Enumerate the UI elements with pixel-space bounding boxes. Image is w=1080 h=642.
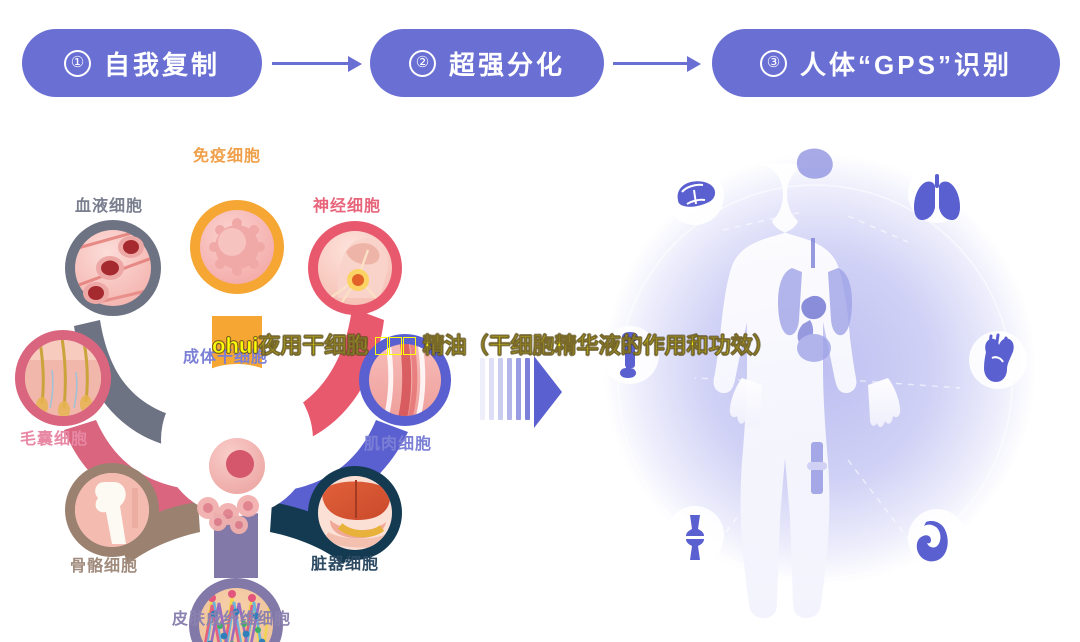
step-number-badge-2: ② [409,50,436,77]
missing-glyph-box-1 [375,337,388,355]
step-arrow-icon-1 [348,56,362,72]
cell-node-bone [65,463,159,557]
process-steps-header: ① 自我复制 ② 超强分化 ③ 人体“GPS”识别 [0,0,1080,120]
cell-label-organ: 脏器细胞 [311,550,379,574]
cell-label-muscle: 肌肉细胞 [364,430,432,454]
cell-label-fibroblast: 皮肤成纤维细胞 [172,605,291,629]
infographic-canvas: ① 自我复制 ② 超强分化 ③ 人体“GPS”识别 [0,0,1080,642]
step-connector-line-1 [272,62,350,65]
human-body-gps-panel [530,120,1080,642]
missing-glyph-box-3 [403,337,416,355]
organ-bubble-lungs [908,165,966,223]
cell-label-hair-follicle: 毛囊细胞 [20,425,88,449]
watermark-prefix: ohui夜用干细胞 [212,333,375,358]
watermark-suffix: 精油（干细胞精华液的作用和功效） [417,333,775,358]
cell-label-bone: 骨骼细胞 [70,552,138,576]
step-arrow-icon-2 [687,56,701,72]
cell-node-hair-follicle [15,330,111,426]
cell-node-blood [65,220,161,316]
step-label-3: 人体“GPS”识别 [800,45,1012,82]
step-number-badge-1: ① [64,50,91,77]
organ-bubble-brain [666,167,724,225]
cell-label-immune: 免疫细胞 [193,142,261,166]
cell-node-immune [190,200,284,294]
step-pill-self-replication[interactable]: ① 自我复制 [22,29,262,97]
step-pill-gps-recognition[interactable]: ③ 人体“GPS”识别 [712,29,1060,97]
step-label-1: 自我复制 [104,45,220,82]
step-pill-differentiation[interactable]: ② 超强分化 [370,29,604,97]
cell-node-nerve [308,221,402,315]
cell-label-nerve: 神经细胞 [313,192,381,216]
cell-node-organ [308,466,402,560]
human-body-silhouette [714,164,901,618]
missing-glyph-box-2 [389,337,402,355]
watermark-overlay-text: ohui夜用干细胞 精油（干细胞精华液的作用和功效） [212,328,775,360]
cell-label-blood: 血液细胞 [75,192,143,216]
organ-bubble-knee-joint [666,506,724,564]
step-connector-line-2 [613,62,689,65]
organ-bubble-stomach [908,509,966,567]
step-label-2: 超强分化 [449,45,565,82]
step-number-badge-3: ③ [760,50,787,77]
organ-bubble-heart [969,331,1027,389]
stem-cell-network-diagram: 免疫细胞 血液细胞 神经细胞 毛囊细胞 成体干细胞 肌肉细胞 骨骼细胞 脏器细胞… [0,120,470,642]
